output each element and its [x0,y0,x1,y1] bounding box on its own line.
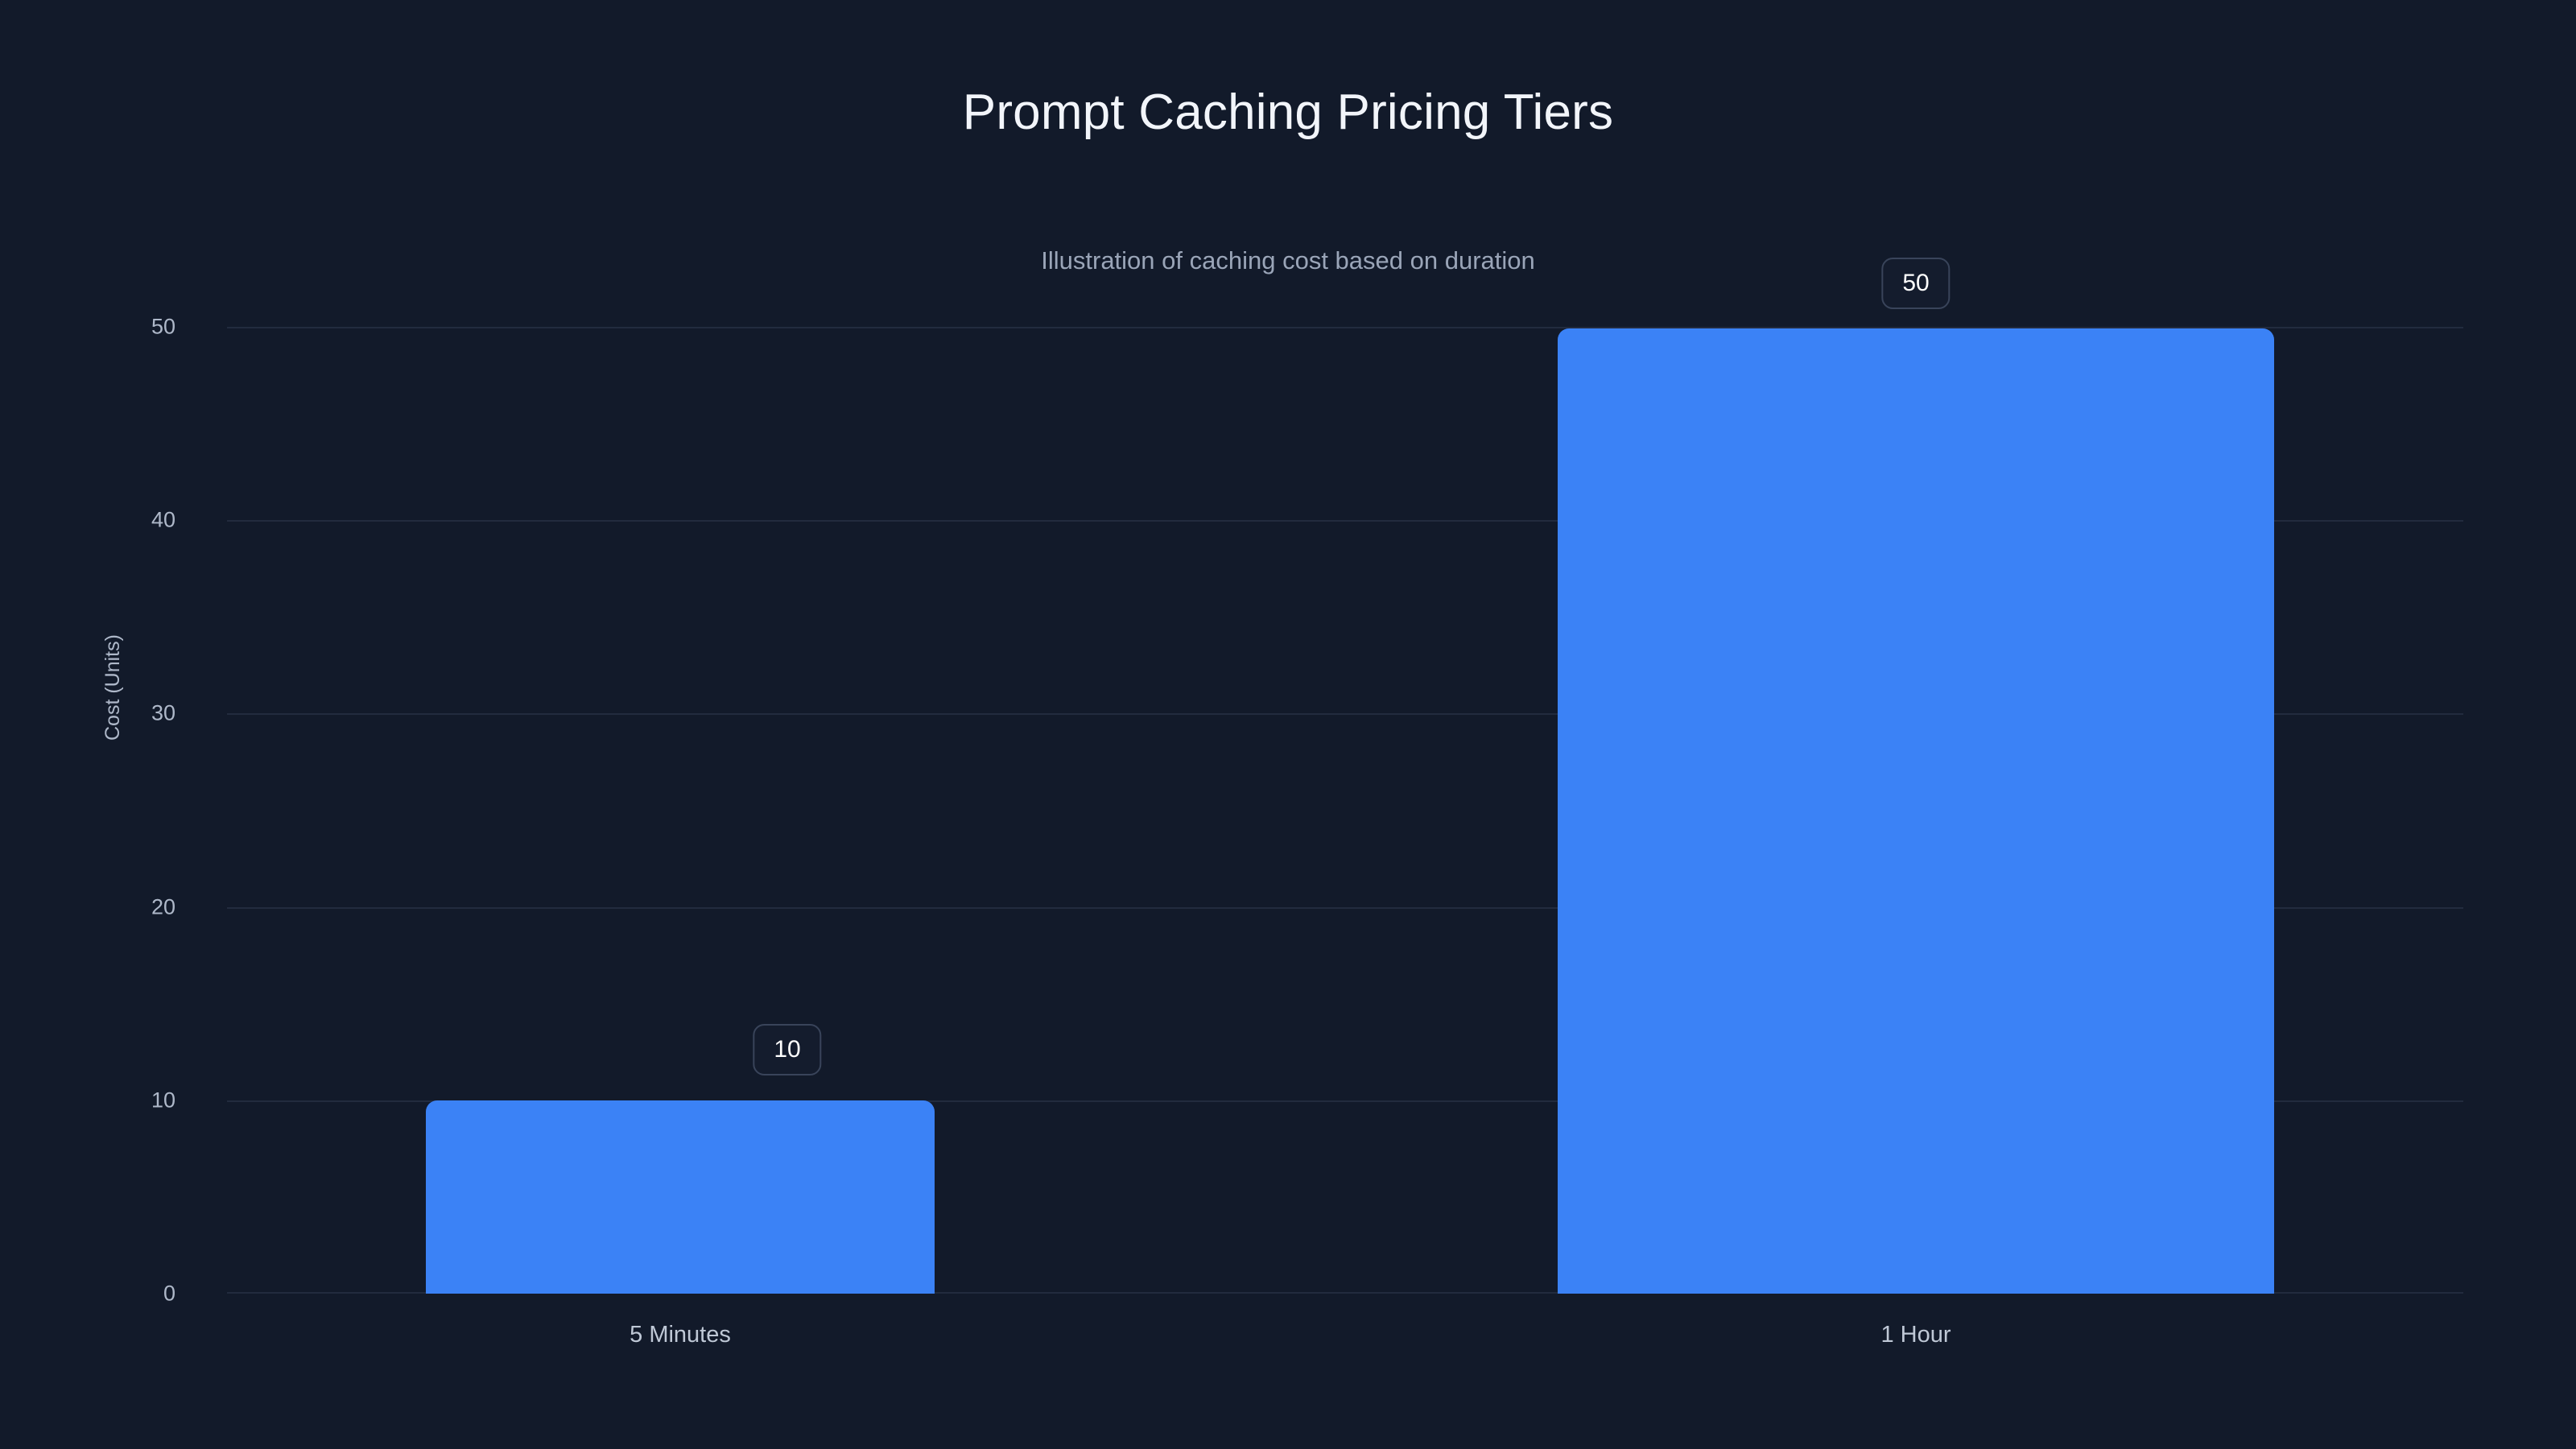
bar-5-minutes[interactable] [426,1100,935,1294]
y-tick-label: 40 [151,510,175,531]
bar-1-hour[interactable] [1558,328,2274,1294]
plot-area [227,327,2463,1294]
chart-title: Prompt Caching Pricing Tiers [0,84,2576,142]
x-tick-label-5-minutes: 5 Minutes [630,1321,731,1348]
x-axis-tick-labels: 5 Minutes 1 Hour [227,1321,2463,1361]
y-tick-label: 20 [151,897,175,919]
x-tick-label-1-hour: 1 Hour [1880,1321,1951,1348]
y-axis-tick-labels: 50 40 30 20 10 0 [0,327,193,1294]
y-tick-label: 50 [151,316,175,338]
y-tick-label: 10 [151,1090,175,1112]
bar-chart-canvas: Prompt Caching Pricing Tiers Illustratio… [0,0,2576,1449]
chart-subtitle: Illustration of caching cost based on du… [0,246,2576,276]
y-tick-label: 30 [151,703,175,724]
value-badge-1-hour: 50 [1881,258,1950,309]
y-tick-label: 0 [163,1283,175,1305]
value-badge-5-minutes: 10 [753,1024,821,1075]
